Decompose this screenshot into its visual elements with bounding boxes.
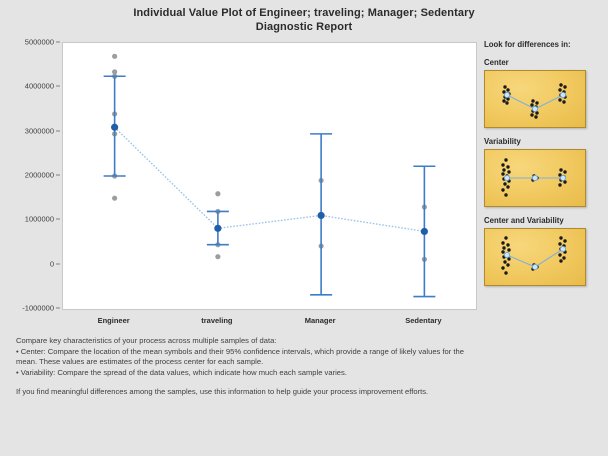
footer-bullet-center: • Center: Compare the location of the me… (16, 347, 478, 368)
group-traveling (207, 191, 229, 259)
mean-connecting-line (115, 127, 425, 231)
center-illustration (484, 70, 586, 128)
y-axis-tick-mark (56, 130, 60, 131)
side-panel-heading: Look for differences in: (484, 40, 602, 49)
x-axis-tick-label-sedentary: Sedentary (405, 316, 441, 325)
mean-marker (111, 124, 118, 131)
y-axis-tick-mark (56, 219, 60, 220)
center-and-variability-illustration (484, 228, 586, 286)
card-center-and-variability-label: Center and Variability (484, 216, 602, 225)
mean-marker (421, 228, 428, 235)
diagnostic-report: Individual Value Plot of Engineer; trave… (0, 0, 608, 456)
group-sedentary (413, 166, 435, 296)
data-point (112, 54, 117, 59)
y-axis: 500000040000003000000200000010000000-100… (0, 42, 62, 308)
mean-marker (214, 225, 221, 232)
y-axis-tick-mark (56, 42, 60, 43)
card-center-label: Center (484, 58, 602, 67)
x-axis-tick-label-traveling: traveling (201, 316, 232, 325)
y-axis-tick-label: 3000000 (25, 126, 54, 135)
footer-bullet-variability: • Variability: Compare the spread of the… (16, 368, 478, 379)
y-axis-tick-label: 1000000 (25, 215, 54, 224)
x-axis-tick-label-manager: Manager (305, 316, 336, 325)
group-manager (310, 134, 332, 295)
y-axis-tick-label: 4000000 (25, 82, 54, 91)
card-center: Center (484, 58, 602, 128)
title-line-1: Individual Value Plot of Engineer; trave… (0, 6, 608, 20)
variability-illustration (484, 149, 586, 207)
center-and-variability-illustration-graphic (485, 229, 585, 285)
data-point (215, 254, 220, 259)
y-axis-tick-label: -1000000 (22, 304, 54, 313)
data-point (215, 191, 220, 196)
plot-canvas (63, 43, 476, 309)
y-axis-tick-label: 0 (50, 259, 54, 268)
footer-text: Compare key characteristics of your proc… (16, 336, 478, 398)
data-point (112, 196, 117, 201)
y-axis-tick-label: 5000000 (25, 38, 54, 47)
side-panel: Look for differences in: Center (484, 40, 602, 295)
data-point (112, 69, 117, 74)
group-engineer (104, 54, 126, 201)
y-axis-tick-mark (56, 86, 60, 87)
mean-marker (318, 212, 325, 219)
card-variability: Variability (484, 137, 602, 207)
y-axis-tick-mark (56, 308, 60, 309)
footer-intro: Compare key characteristics of your proc… (16, 336, 478, 347)
x-axis: EngineertravelingManagerSedentary (62, 310, 475, 330)
x-axis-tick-label-engineer: Engineer (98, 316, 130, 325)
title-line-2: Diagnostic Report (0, 20, 608, 34)
y-axis-tick-mark (56, 175, 60, 176)
y-axis-tick-mark (56, 263, 60, 264)
individual-value-plot (62, 42, 477, 310)
center-illustration-graphic (485, 71, 585, 127)
card-center-and-variability: Center and Variability (484, 216, 602, 286)
footer-spacer (16, 378, 478, 387)
variability-illustration-graphic (485, 150, 585, 206)
card-variability-label: Variability (484, 137, 602, 146)
y-axis-tick-label: 2000000 (25, 171, 54, 180)
footer-closing: If you find meaningful differences among… (16, 387, 478, 398)
page-title: Individual Value Plot of Engineer; trave… (0, 6, 608, 34)
